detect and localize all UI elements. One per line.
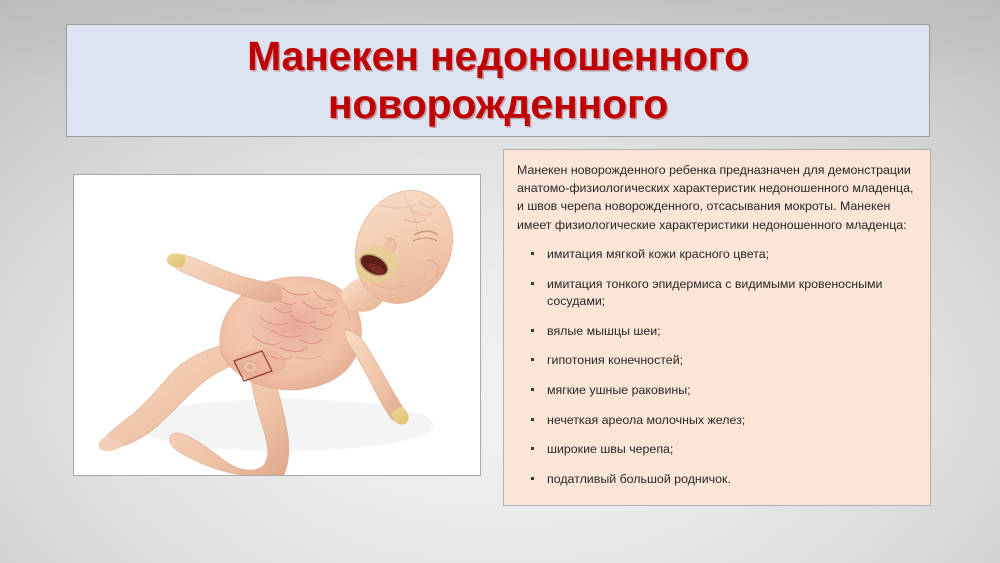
bullet-icon [531,282,534,285]
presentation-slide: Манекен недоношенного новорожденного [0,0,1000,563]
list-item-label: податливый большой родничок. [547,472,731,486]
title-box: Манекен недоношенного новорожденного [66,24,930,137]
mannequin-image-panel [73,174,481,476]
bullet-icon [531,358,534,361]
bullet-icon [531,447,534,450]
bullet-icon [531,477,534,480]
list-item-label: имитация мягкой кожи красного цвета; [547,247,769,261]
list-item: гипотония конечностей; [517,352,916,370]
bullet-icon [531,418,534,421]
bullet-icon [531,388,534,391]
page-title: Манекен недоношенного новорожденного [235,33,761,129]
bullet-icon [531,252,534,255]
list-item-label: имитация тонкого эпидермиса с видимыми к… [547,277,882,309]
list-item: вялые мышцы шеи; [517,323,916,341]
list-item-label: мягкие ушные раковины; [547,383,691,397]
list-item: нечеткая ареола молочных желез; [517,412,916,430]
list-item-label: нечеткая ареола молочных желез; [547,413,745,427]
list-item-label: гипотония конечностей; [547,353,683,367]
list-item: имитация мягкой кожи красного цвета; [517,246,916,264]
mannequin-photo [74,175,480,475]
feature-list: имитация мягкой кожи красного цвета; ими… [517,246,916,488]
bullet-icon [531,329,534,332]
mannequin-illustration [74,175,480,475]
list-item: имитация тонкого эпидермиса с видимыми к… [517,276,916,311]
list-item-label: вялые мышцы шеи; [547,324,661,338]
list-item-label: широкие швы черепа; [547,442,673,456]
description-panel: Манекен новорожденного ребенка предназна… [503,149,931,506]
list-item: широкие швы черепа; [517,441,916,459]
list-item: податливый большой родничок. [517,471,916,489]
intro-paragraph: Манекен новорожденного ребенка предназна… [517,161,916,234]
list-item: мягкие ушные раковины; [517,382,916,400]
